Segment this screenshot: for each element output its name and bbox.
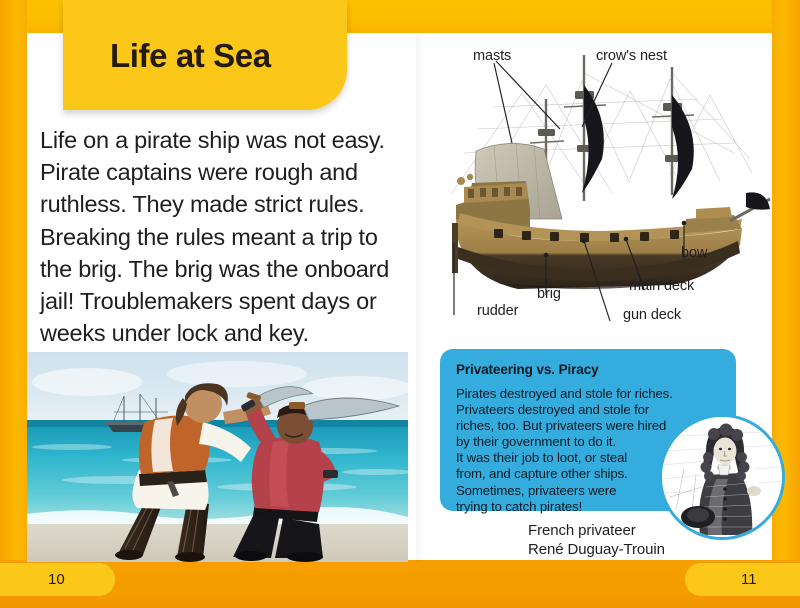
portrait-caption-line-2: René Duguay-Trouin [528,540,665,559]
fact-box-line: Pirates destroyed and stole for riches. [456,386,720,402]
chapter-title-tab: Life at Sea [63,0,347,110]
diagram-label-main-deck: main deck [629,278,694,294]
diagram-label-brig: brig [537,286,561,302]
privateer-portrait [659,414,785,540]
body-paragraph: Life on a pirate ship was not easy. Pira… [40,124,392,349]
fact-box-title: Privateering vs. Piracy [456,362,720,377]
portrait-caption: French privateer René Duguay-Trouin [528,521,665,559]
page-number-left: 10 [0,563,115,596]
diagram-label-gun-deck: gun deck [623,307,681,323]
ship-diagram [434,33,772,333]
diagram-label-crows-nest: crow's nest [596,48,667,64]
diagram-label-rudder: rudder [477,303,518,319]
page-border-left [0,0,27,568]
book-spread: Life at Sea Life on a pirate ship was no… [0,0,800,608]
fact-box-line: Privateers destroyed and stole for [456,402,720,418]
page-border-bottom [0,560,800,608]
diagram-label-bow: bow [681,245,707,261]
portrait-caption-line-1: French privateer [528,521,665,540]
pirate-fight-photo [27,352,408,562]
diagram-label-masts: masts [473,48,511,64]
page-title: Life at Sea [110,39,271,72]
page-number-right: 11 [685,563,800,596]
